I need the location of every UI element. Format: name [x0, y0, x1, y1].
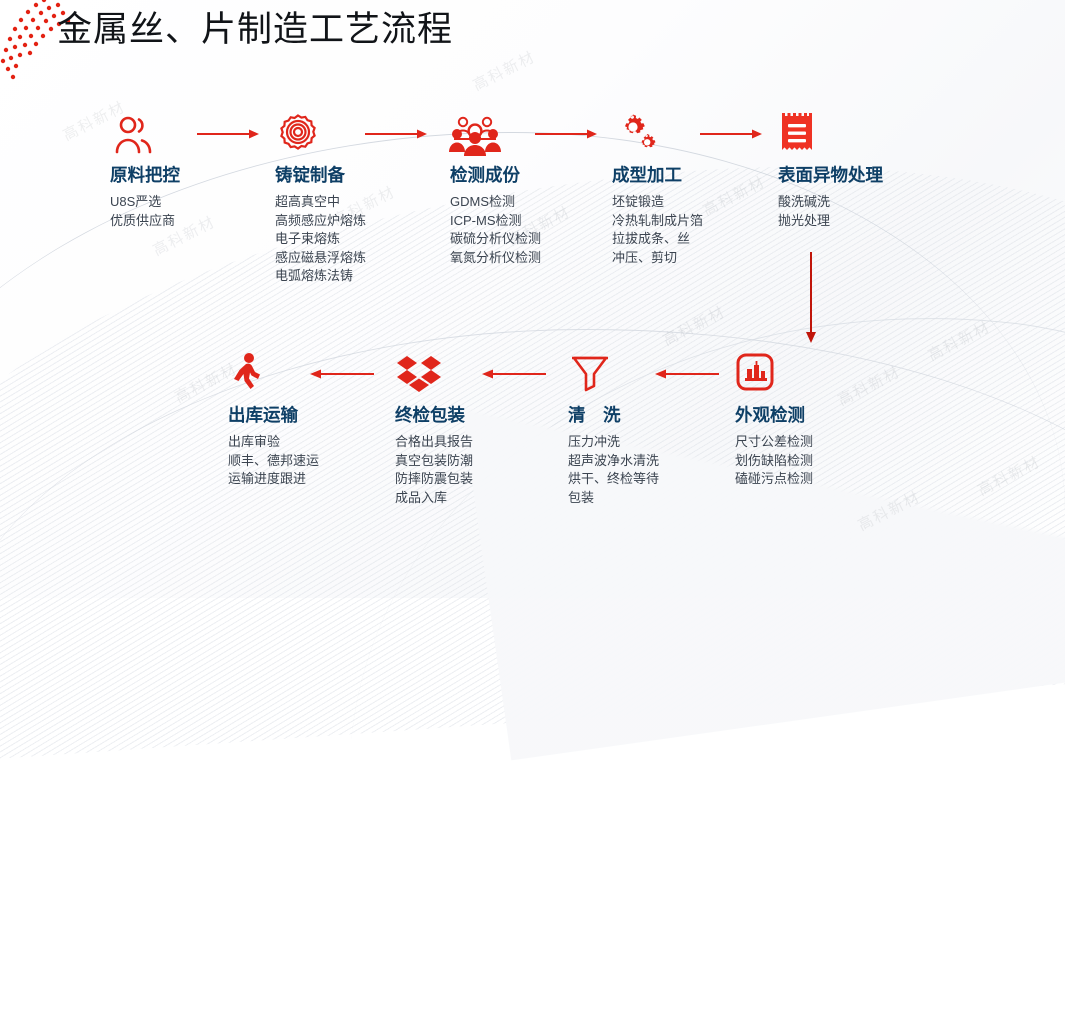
- step-detail-line: ICP-MS检测: [450, 212, 541, 231]
- flow-step-composition-testing[interactable]: 检测成份 GDMS检测 ICP-MS检测 碳硫分析仪检测 氧氮分析仪检测: [450, 112, 541, 267]
- step-detail-line: 酸洗碱洗: [778, 193, 883, 212]
- flow-step-outbound-shipping[interactable]: 出库运输 出库审验 顺丰、德邦速运 运输进度跟进: [228, 352, 319, 489]
- step-detail-list: 尺寸公差检测 划伤缺陷检测 磕碰污点检测: [735, 433, 813, 489]
- gear-rings-icon: [275, 112, 366, 158]
- arrow-left-2: [482, 368, 546, 380]
- step-detail-line: GDMS检测: [450, 193, 541, 212]
- step-detail-list: 压力冲洗 超声波净水清洗 烘干、终检等待包装: [568, 433, 668, 507]
- step-detail-list: 出库审验 顺丰、德邦速运 运输进度跟进: [228, 433, 319, 489]
- step-detail-line: 超高真空中: [275, 193, 366, 212]
- step-detail-line: 碳硫分析仪检测: [450, 230, 541, 249]
- document-block-icon: [778, 112, 883, 158]
- flow-step-appearance-inspection[interactable]: 外观检测 尺寸公差检测 划伤缺陷检测 磕碰污点检测: [735, 352, 813, 489]
- step-detail-line: 防摔防震包装: [395, 470, 473, 489]
- step-detail-line: 出库审验: [228, 433, 319, 452]
- step-detail-list: 超高真空中 高频感应炉熔炼 电子束熔炼 感应磁悬浮熔炼 电弧熔炼法铸: [275, 193, 366, 286]
- step-title: 出库运输: [228, 404, 319, 426]
- step-detail-line: U8S严选: [110, 193, 180, 212]
- step-detail-line: 抛光处理: [778, 212, 883, 231]
- factory-box-icon: [735, 352, 813, 398]
- open-box-icon: [395, 352, 473, 398]
- arrow-right-1: [197, 128, 259, 140]
- step-title: 终检包装: [395, 404, 473, 426]
- step-detail-line: 冲压、剪切: [612, 249, 703, 268]
- funnel-icon: [568, 352, 668, 398]
- step-detail-list: 酸洗碱洗 抛光处理: [778, 193, 883, 230]
- step-detail-line: 高频感应炉熔炼: [275, 212, 366, 231]
- flow-step-raw-material-control[interactable]: 原料把控 U8S严选 优质供应商: [110, 112, 180, 230]
- step-detail-line: 划伤缺陷检测: [735, 452, 813, 471]
- page-title: 金属丝、片制造工艺流程: [57, 7, 453, 53]
- slide-canvas: 高科新材 高科新材 高科新材 高科新材 高科新材 高科新材 高科新材 高科新材 …: [0, 0, 1065, 598]
- step-detail-line: 烘干、终检等待包装: [568, 470, 668, 507]
- step-detail-list: GDMS检测 ICP-MS检测 碳硫分析仪检测 氧氮分析仪检测: [450, 193, 541, 267]
- step-title: 清 洗: [568, 404, 668, 426]
- step-detail-line: 成品入库: [395, 489, 473, 508]
- step-detail-line: 拉拔成条、丝: [612, 230, 703, 249]
- arrow-down-1: [804, 252, 816, 344]
- arrow-right-3: [535, 128, 597, 140]
- flow-step-final-inspection-packaging[interactable]: 终检包装 合格出具报告 真空包装防潮 防摔防震包装 成品入库: [395, 352, 473, 507]
- flow-step-ingot-preparation[interactable]: 铸锭制备 超高真空中 高频感应炉熔炼 电子束熔炼 感应磁悬浮熔炼 电弧熔炼法铸: [275, 112, 366, 286]
- flow-step-forming-processing[interactable]: 成型加工 坯锭锻造 冷热轧制成片箔 拉拔成条、丝 冲压、剪切: [612, 112, 703, 267]
- arrow-right-4: [700, 128, 762, 140]
- step-detail-line: 坯锭锻造: [612, 193, 703, 212]
- step-title: 检测成份: [450, 164, 541, 186]
- step-detail-list: U8S严选 优质供应商: [110, 193, 180, 230]
- flow-step-surface-treatment[interactable]: 表面异物处理 酸洗碱洗 抛光处理: [778, 112, 883, 230]
- step-detail-line: 冷热轧制成片箔: [612, 212, 703, 231]
- step-detail-list: 坯锭锻造 冷热轧制成片箔 拉拔成条、丝 冲压、剪切: [612, 193, 703, 267]
- people-group-icon: [450, 112, 541, 158]
- step-detail-line: 顺丰、德邦速运: [228, 452, 319, 471]
- two-people-outline-icon: [110, 112, 180, 158]
- double-gears-icon: [612, 112, 703, 158]
- step-title: 成型加工: [612, 164, 703, 186]
- step-detail-line: 氧氮分析仪检测: [450, 249, 541, 268]
- step-title: 表面异物处理: [778, 164, 883, 186]
- step-title: 铸锭制备: [275, 164, 366, 186]
- step-detail-line: 超声波净水清洗: [568, 452, 668, 471]
- step-detail-line: 电子束熔炼: [275, 230, 366, 249]
- step-detail-line: 电弧熔炼法铸: [275, 267, 366, 286]
- step-detail-list: 合格出具报告 真空包装防潮 防摔防震包装 成品入库: [395, 433, 473, 507]
- step-detail-line: 压力冲洗: [568, 433, 668, 452]
- step-detail-line: 真空包装防潮: [395, 452, 473, 471]
- step-detail-line: 优质供应商: [110, 212, 180, 231]
- step-detail-line: 尺寸公差检测: [735, 433, 813, 452]
- flow-step-cleaning[interactable]: 清 洗 压力冲洗 超声波净水清洗 烘干、终检等待包装: [568, 352, 668, 507]
- step-title: 外观检测: [735, 404, 813, 426]
- step-detail-line: 磕碰污点检测: [735, 470, 813, 489]
- arrow-left-3: [310, 368, 374, 380]
- step-detail-line: 运输进度跟进: [228, 470, 319, 489]
- walking-person-icon: [228, 352, 319, 398]
- step-title: 原料把控: [110, 164, 180, 186]
- step-detail-line: 合格出具报告: [395, 433, 473, 452]
- arrow-right-2: [365, 128, 427, 140]
- step-detail-line: 感应磁悬浮熔炼: [275, 249, 366, 268]
